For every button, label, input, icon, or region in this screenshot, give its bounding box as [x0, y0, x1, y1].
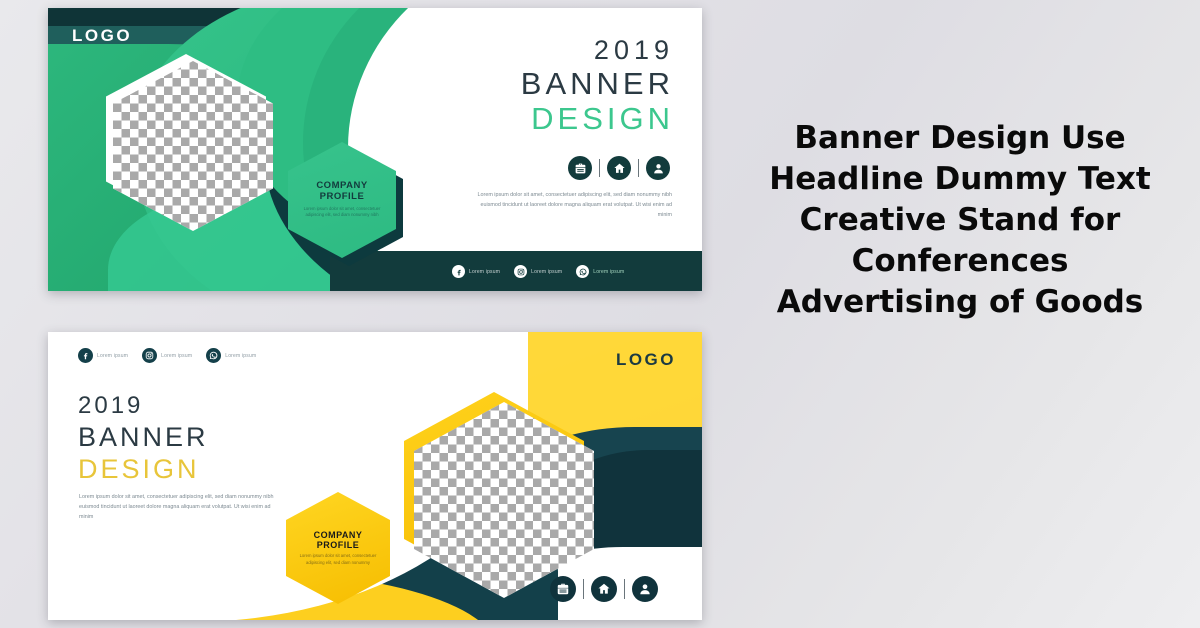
banner-title: BANNER: [521, 66, 674, 102]
social-label: Lorem ipsum: [531, 269, 562, 275]
social-label: Lorem ipsum: [225, 353, 256, 359]
banner-title: BANNER: [78, 421, 209, 453]
briefcase-icon[interactable]: [568, 156, 592, 180]
icon-divider-1: [599, 159, 600, 177]
social-item[interactable]: Lorem ipsum: [452, 265, 500, 278]
social-item[interactable]: Lorem ipsum: [206, 348, 256, 363]
image-placeholder-hexagon[interactable]: [106, 54, 266, 224]
feature-icon-row: [568, 156, 670, 180]
banner-year: 2019: [78, 392, 209, 421]
social-item[interactable]: Lorem ipsum: [142, 348, 192, 363]
banner-headline-block: 2019 BANNER DESIGN: [78, 392, 209, 486]
instagram-icon[interactable]: [514, 265, 527, 278]
banner-lorem-text: Lorem ipsum dolor sit amet, consectetuer…: [79, 492, 275, 522]
social-label: Lorem ipsum: [97, 353, 128, 359]
social-label: Lorem ipsum: [469, 269, 500, 275]
briefcase-icon[interactable]: [550, 576, 576, 602]
whatsapp-icon[interactable]: [576, 265, 589, 278]
logo-text[interactable]: LOGO: [616, 350, 676, 370]
icon-divider-1: [583, 579, 584, 599]
image-placeholder-hexagon[interactable]: [404, 392, 584, 588]
banner-headline-block: 2019 BANNER DESIGN: [521, 36, 674, 137]
headline-line: Headline Dummy Text: [740, 159, 1180, 200]
home-icon[interactable]: [607, 156, 631, 180]
banner-year: 2019: [521, 36, 674, 66]
social-row: Lorem ipsum Lorem ipsum Lorem ipsum: [452, 265, 638, 278]
social-item[interactable]: Lorem ipsum: [78, 348, 128, 363]
headline-line: Conferences: [740, 241, 1180, 282]
whatsapp-icon[interactable]: [206, 348, 221, 363]
banner-subtitle: DESIGN: [521, 101, 674, 137]
company-profile-title-line2: PROFILE: [320, 192, 365, 203]
social-row: Lorem ipsum Lorem ipsum Lorem ipsum: [78, 348, 270, 363]
headline-line: Banner Design Use: [740, 118, 1180, 159]
icon-divider-2: [624, 579, 625, 599]
social-label: Lorem ipsum: [593, 269, 624, 275]
company-profile-title-line1: COMPANY: [314, 530, 363, 540]
home-icon[interactable]: [591, 576, 617, 602]
facebook-icon[interactable]: [78, 348, 93, 363]
person-icon[interactable]: [632, 576, 658, 602]
page-headline: Banner Design Use Headline Dummy Text Cr…: [740, 118, 1180, 323]
headline-line: Advertising of Goods: [740, 282, 1180, 323]
banner-green[interactable]: COMPANY PROFILE Lorem ipsum dolor sit am…: [48, 8, 702, 291]
company-profile-body: Lorem ipsum dolor sit amet, consectetuer…: [300, 553, 377, 566]
social-item[interactable]: Lorem ipsum: [576, 265, 624, 278]
banner-yellow[interactable]: COMPANY PROFILE Lorem ipsum dolor sit am…: [48, 332, 702, 620]
company-profile-body: Lorem ipsum dolor sit amet, consectetuer…: [302, 206, 382, 219]
social-item[interactable]: Lorem ipsum: [514, 265, 562, 278]
headline-line: Creative Stand for: [740, 200, 1180, 241]
company-profile-title-line2: PROFILE: [317, 540, 360, 550]
banner-lorem-text: Lorem ipsum dolor sit amet, consectetuer…: [476, 190, 672, 220]
feature-icon-row: [550, 576, 658, 602]
icon-divider-2: [638, 159, 639, 177]
person-icon[interactable]: [646, 156, 670, 180]
social-label: Lorem ipsum: [161, 353, 192, 359]
logo-text[interactable]: LOGO: [72, 26, 132, 46]
facebook-icon[interactable]: [452, 265, 465, 278]
banner-subtitle: DESIGN: [78, 453, 209, 485]
instagram-icon[interactable]: [142, 348, 157, 363]
